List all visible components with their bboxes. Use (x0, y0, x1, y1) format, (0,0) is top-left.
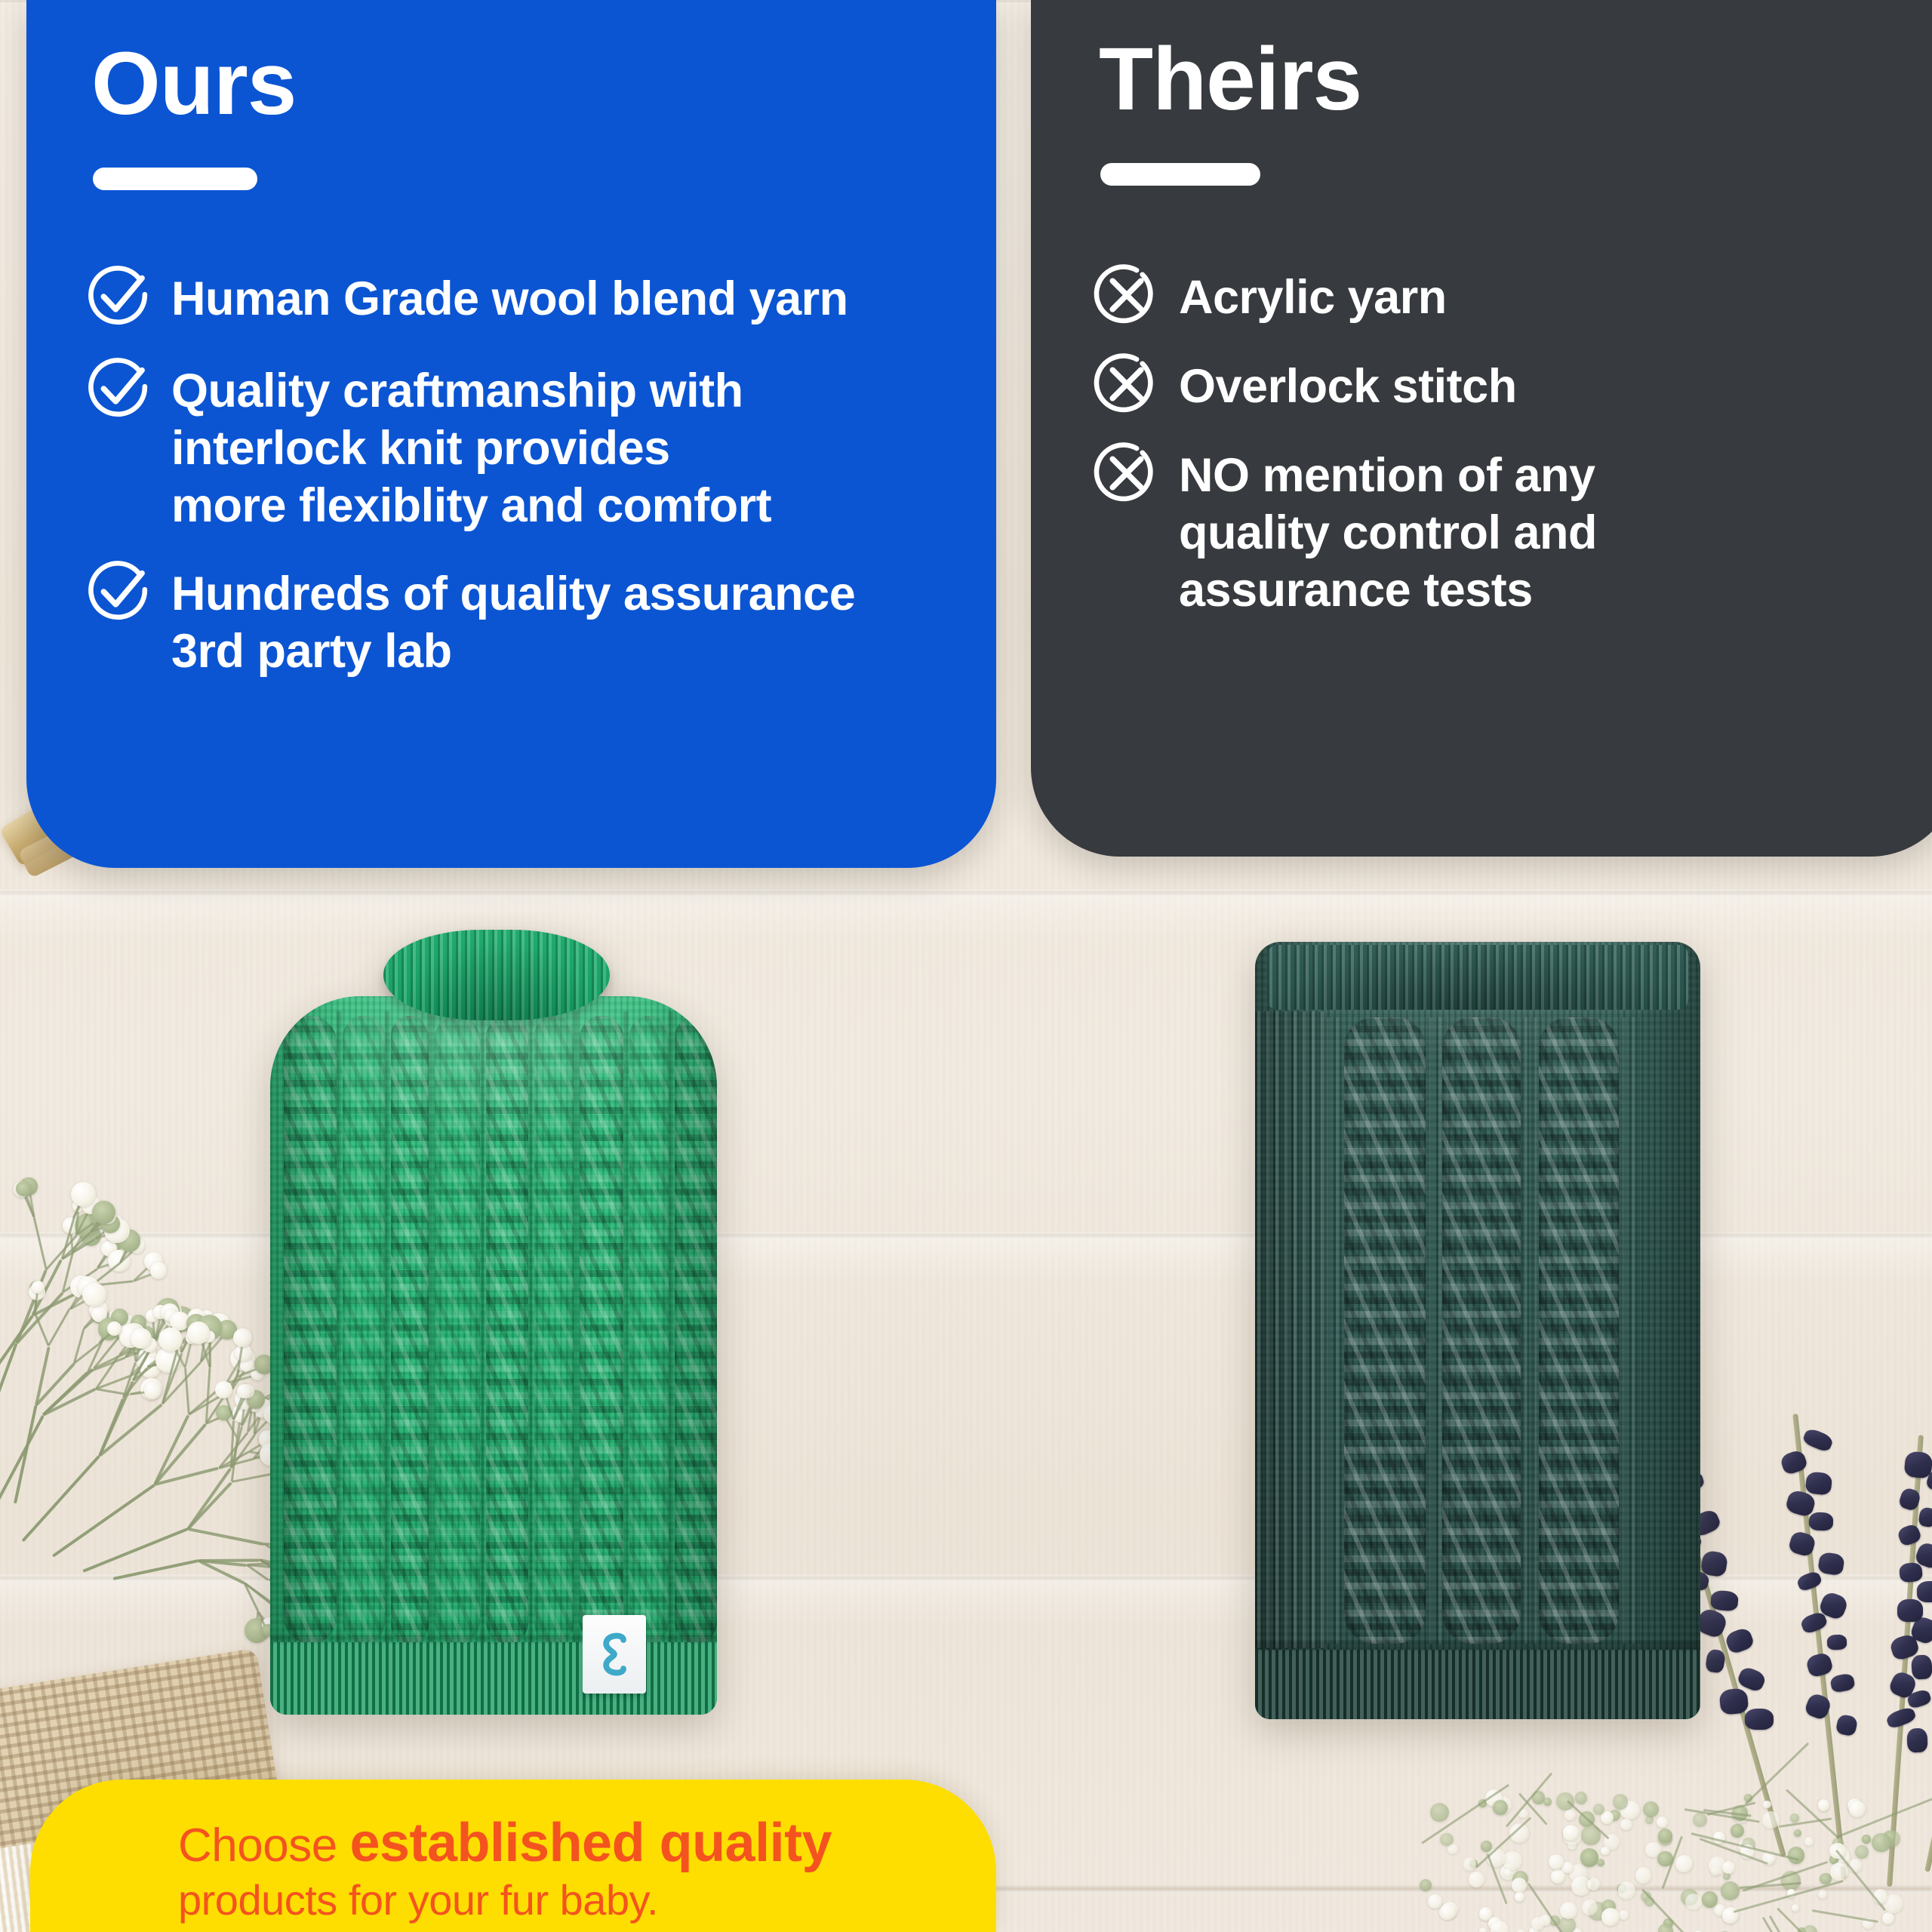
ours-title: Ours (91, 39, 296, 128)
theirs-bullet-text: NO mention of any quality control and as… (1179, 442, 1597, 620)
cable-column (1539, 1017, 1619, 1644)
x-circle-icon (1091, 349, 1162, 420)
theirs-sweater-top-band (1267, 945, 1688, 1010)
check-circle-icon (84, 261, 155, 332)
check-circle-icon (84, 353, 155, 424)
brand-logo-tag (583, 1615, 646, 1694)
ours-bullet-list: Human Grade wool blend yarn Quality craf… (26, 266, 996, 680)
ours-bullet-item: Quality craftmanship with interlock knit… (84, 358, 966, 535)
right-shading (649, 996, 717, 1715)
hem-rib (270, 1642, 717, 1715)
theirs-bullet-list: Acrylic yarn Overlock stitch (1031, 264, 1932, 642)
cable-column (1442, 1017, 1521, 1644)
banner-line-1: Choose established quality (178, 1813, 996, 1874)
hem-seam (270, 1635, 717, 1642)
hem-seam (1255, 1642, 1700, 1650)
comparison-graphic: Ours Human Grade wool blend yarn (0, 0, 1932, 1932)
ours-sweater-collar (383, 930, 610, 1020)
check-circle-icon (84, 556, 155, 627)
hem-rib (1255, 1650, 1700, 1719)
cable-column (1344, 1017, 1426, 1644)
theirs-product-image (1255, 942, 1700, 1719)
ours-bullet-text: Quality craftmanship with interlock knit… (171, 358, 771, 535)
collar-shading (383, 930, 610, 1020)
banner-line-2: products for your fur baby. (178, 1877, 996, 1924)
theirs-bullet-item: Acrylic yarn (1091, 264, 1929, 331)
ours-bullet-text: Human Grade wool blend yarn (171, 266, 848, 328)
brand-mark-icon (595, 1631, 634, 1678)
x-circle-icon (1091, 260, 1162, 331)
ours-sweater-body (270, 996, 717, 1715)
theirs-bullet-item: Overlock stitch (1091, 353, 1929, 420)
ours-bullet-item: Hundreds of quality assurance 3rd party … (84, 561, 966, 680)
theirs-bullet-item: NO mention of any quality control and as… (1091, 442, 1929, 620)
ours-bullet-item: Human Grade wool blend yarn (84, 266, 966, 332)
ours-title-rule (93, 168, 257, 190)
ours-card: Ours Human Grade wool blend yarn (26, 0, 996, 868)
bottom-banner: Choose established quality products for … (30, 1780, 996, 1932)
left-shading (270, 996, 338, 1715)
theirs-card: Theirs Acrylic yarn (1031, 0, 1932, 857)
x-circle-icon (1091, 438, 1162, 509)
ours-bullet-text: Hundreds of quality assurance 3rd party … (171, 561, 855, 680)
top-band-shading (1267, 945, 1688, 1010)
theirs-sweater-body (1255, 942, 1700, 1719)
banner-line-1-prefix: Choose (178, 1820, 349, 1872)
theirs-bullet-text: Overlock stitch (1179, 353, 1517, 415)
theirs-title: Theirs (1099, 35, 1361, 124)
ours-product-image (270, 930, 717, 1715)
theirs-bullet-text: Acrylic yarn (1179, 264, 1447, 326)
theirs-title-rule (1100, 163, 1260, 186)
banner-line-1-strong: established quality (349, 1813, 832, 1873)
